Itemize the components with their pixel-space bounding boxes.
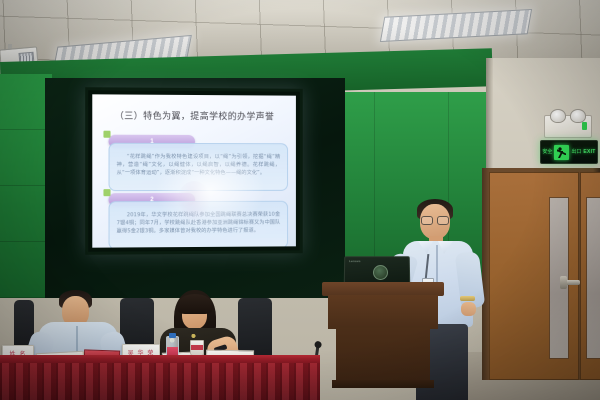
cup-band <box>191 345 203 350</box>
presenter-hand-left <box>461 302 476 316</box>
exit-sign: 安全 出口 EXIT <box>540 140 598 164</box>
exit-sign-english: EXIT <box>583 149 595 155</box>
slide-watermark <box>177 181 211 223</box>
wristwatch-icon <box>460 296 475 301</box>
slide-badge-marker-1 <box>103 131 110 138</box>
exit-sign-chinese-right: 出口 <box>571 150 581 155</box>
door-glass-panel-side <box>586 197 600 359</box>
lectern-base <box>332 380 434 388</box>
running-man-icon <box>554 145 569 160</box>
door-handle[interactable] <box>563 280 580 285</box>
laptop-brand-label: Lenovo <box>349 259 361 263</box>
lectern: Lenovo <box>322 282 444 400</box>
emergency-status-led <box>582 122 587 130</box>
emergency-light <box>544 115 592 138</box>
projection-screen: （三）特色为翼，提高学校的办学声誉 1 “花样跳绳”作为我校特色建设项目，以“绳… <box>85 87 303 255</box>
emergency-lamp-left <box>550 109 566 123</box>
slide-title: （三）特色为翼，提高学校的办学声誉 <box>92 108 296 122</box>
glasses-icon <box>421 216 449 223</box>
bottle-cap <box>169 333 176 338</box>
table-skirt <box>0 363 320 400</box>
lectern-column <box>336 328 430 382</box>
paper-cup <box>190 340 204 356</box>
attendee-woman-fringe <box>178 294 212 314</box>
slide-body-1: “花样跳绳”作为我校特色建设项目，以“绳”为引领，挖掘“绳”精神，营造“绳”文化… <box>117 153 281 177</box>
exit-sign-chinese-left: 安全 <box>542 150 552 155</box>
projected-slide: （三）特色为翼，提高学校的办学声誉 1 “花样跳绳”作为我校特色建设项目，以“绳… <box>92 94 296 247</box>
lectern-top <box>322 282 444 296</box>
slide-badge-marker-2 <box>103 189 110 196</box>
laptop-logo-icon <box>373 265 388 280</box>
emergency-lamp-right <box>570 109 586 123</box>
head-table <box>0 358 320 400</box>
conference-room-scene: 安全 出口 EXIT （三）特色为翼，提高学校的办学声誉 1 “花样跳绳”作为我… <box>0 0 600 400</box>
lectern-body <box>328 295 438 329</box>
